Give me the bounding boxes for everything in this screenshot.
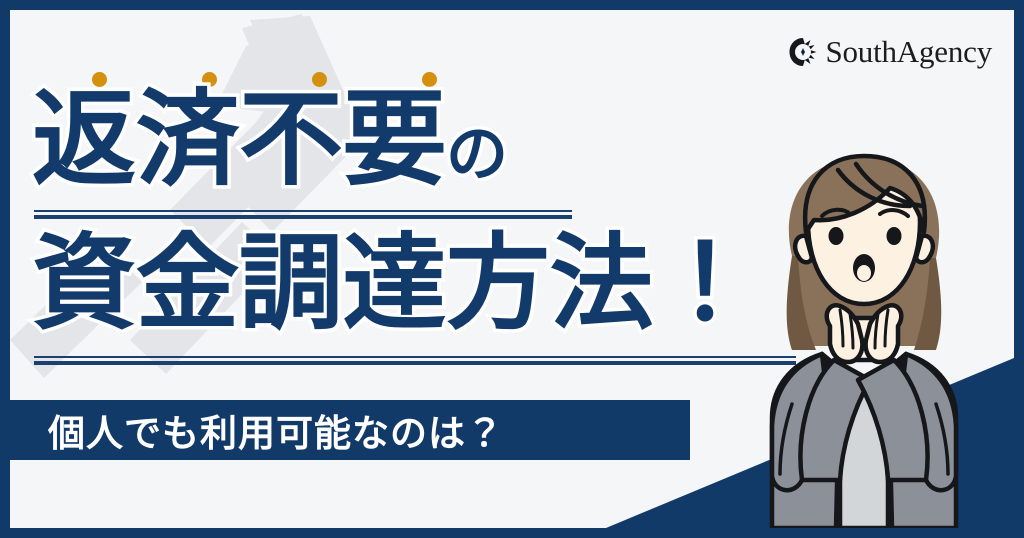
subtitle-text: 個人でも利用可能なのは？ xyxy=(10,403,504,457)
banner-root: SouthAgency 返済不要の 資金調達方法！ 個人でも利用可能なのは？ xyxy=(0,0,1024,538)
logo[interactable]: SouthAgency xyxy=(788,36,992,67)
headline-line-1-emphasis: 返済不要 xyxy=(32,82,446,198)
surprised-woman-illustration xyxy=(730,136,998,528)
logo-text: SouthAgency xyxy=(825,36,992,67)
headline-rule-2 xyxy=(34,356,796,365)
compass-icon xyxy=(788,37,818,67)
headline-line-1-particle: の xyxy=(446,120,508,189)
subtitle-bar: 個人でも利用可能なのは？ xyxy=(10,400,690,460)
rule-thick xyxy=(34,361,796,365)
banner-inner-card: SouthAgency 返済不要の 資金調達方法！ 個人でも利用可能なのは？ xyxy=(10,10,1014,528)
rule-thick xyxy=(34,215,572,219)
headline-rule-1 xyxy=(34,210,572,219)
